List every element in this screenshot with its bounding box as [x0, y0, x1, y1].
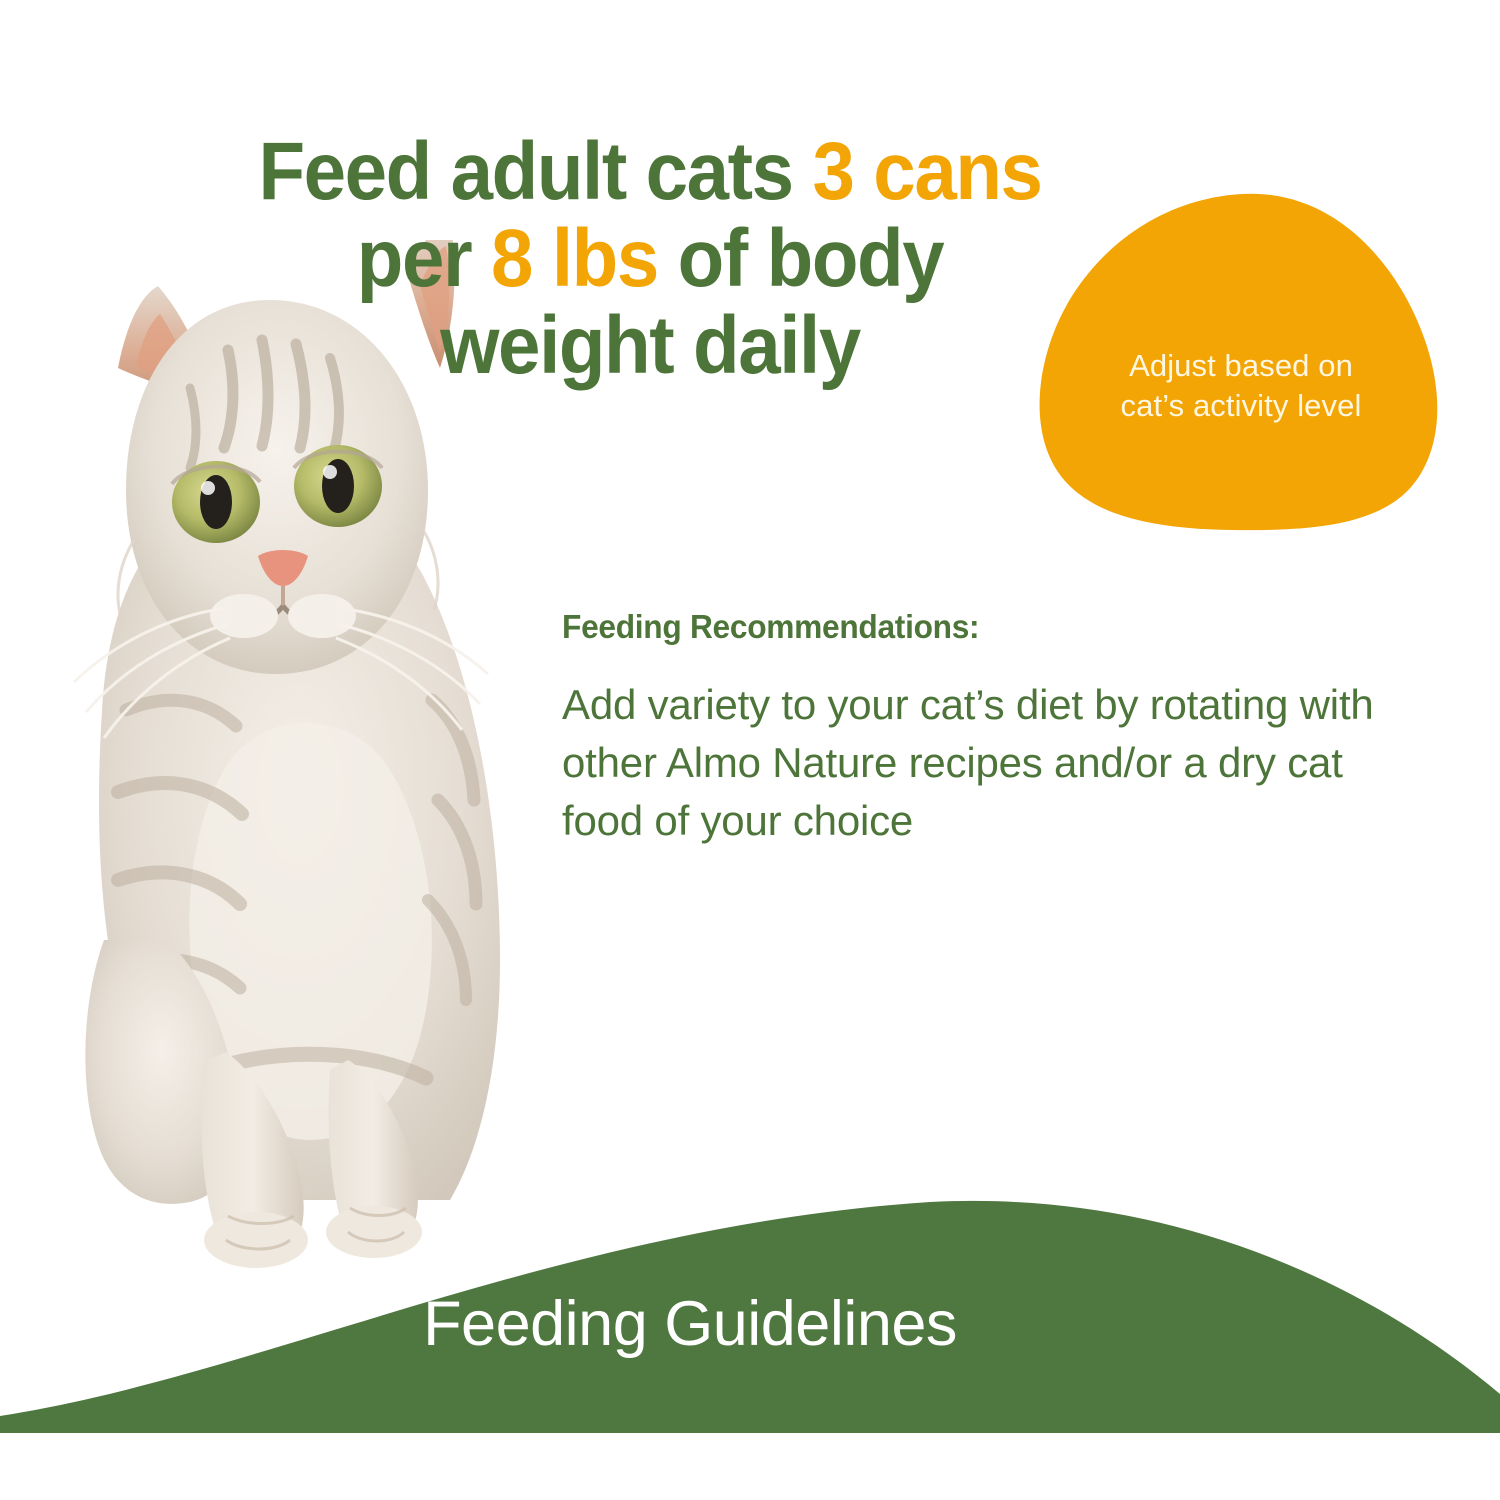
headline-line2-pre: per — [357, 213, 491, 304]
headline-line1-text: Feed adult cats — [258, 126, 812, 217]
activity-callout-blob: Adjust based on cat’s activity level — [1036, 186, 1446, 531]
cat-photo — [30, 240, 520, 1270]
headline-line2-post: of body — [658, 213, 943, 304]
headline-line-3: weight daily — [185, 303, 1115, 390]
blob-caption-line-1: Adjust based on — [1036, 346, 1446, 386]
headline-line-2: per 8 lbs of body — [185, 216, 1115, 303]
blob-caption-line-2: cat’s activity level — [1036, 386, 1446, 426]
page-headline: Feed adult cats 3 cans per 8 lbs of body… — [185, 129, 1115, 390]
feeding-recommendations-text: Add variety to your cat’s diet by rotati… — [562, 676, 1412, 850]
footer-title: Feeding Guidelines — [0, 1288, 1440, 1360]
headline-accent-lbs: 8 lbs — [491, 213, 658, 304]
headline-line-1: Feed adult cats 3 cans — [185, 129, 1115, 216]
feeding-recommendations-heading: Feeding Recommendations: — [562, 608, 1378, 646]
feeding-guidelines-infographic: Feed adult cats 3 cans per 8 lbs of body… — [0, 0, 1500, 1500]
feeding-recommendations-block: Feeding Recommendations: Add variety to … — [562, 608, 1412, 850]
headline-accent-cans: 3 cans — [812, 126, 1041, 217]
blob-caption: Adjust based on cat’s activity level — [1036, 346, 1446, 425]
